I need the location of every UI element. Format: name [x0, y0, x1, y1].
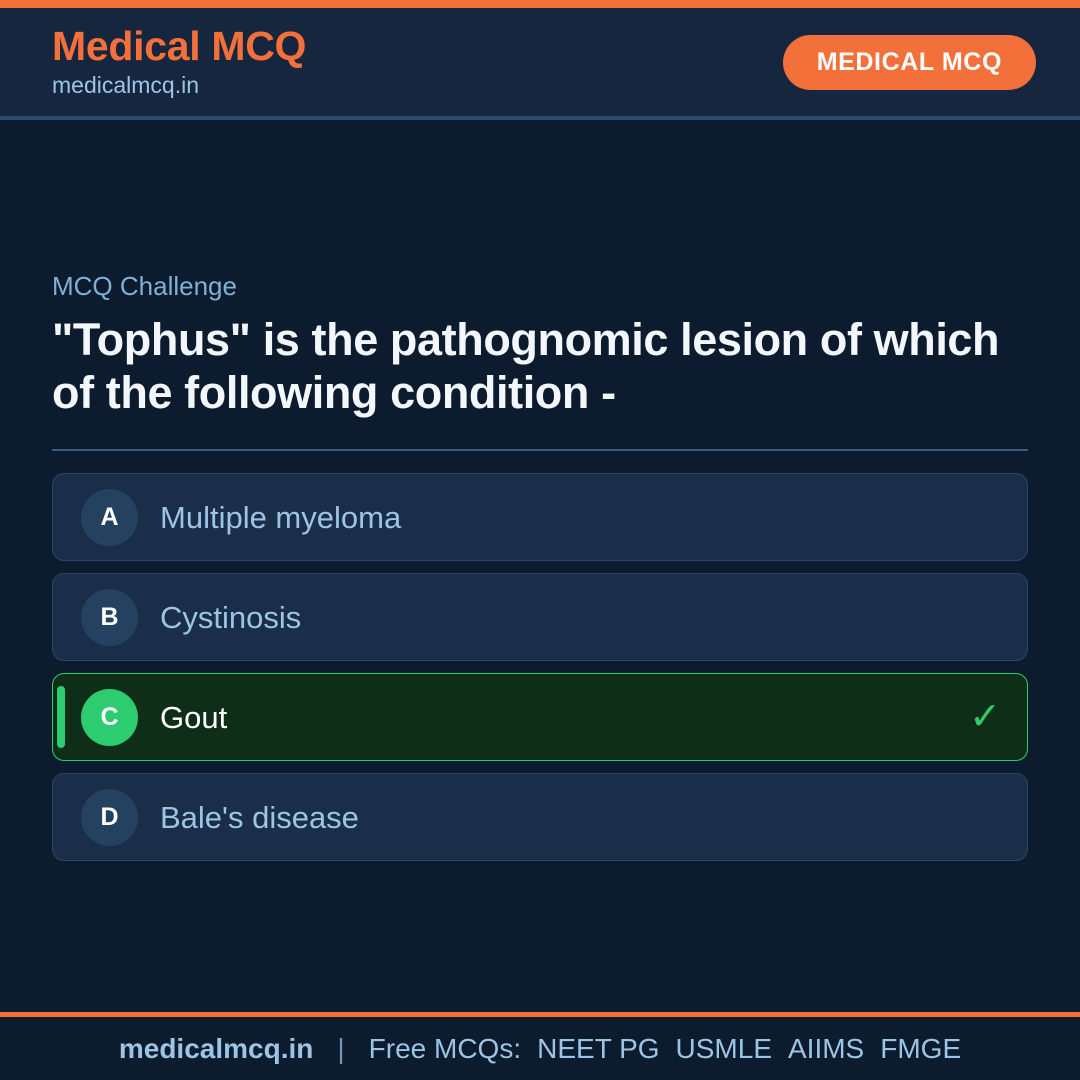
- option-b[interactable]: B Cystinosis ✓: [52, 573, 1028, 661]
- footer: medicalmcq.in | Free MCQs: NEET PG USMLE…: [0, 1012, 1080, 1080]
- option-d[interactable]: D Bale's disease ✓: [52, 773, 1028, 861]
- footer-exam-neet-pg: NEET PG: [537, 1033, 659, 1065]
- header: Medical MCQ medicalmcq.in MEDICAL MCQ: [0, 8, 1080, 120]
- question-text: "Tophus" is the pathognomic lesion of wh…: [52, 314, 1028, 419]
- option-label: Multiple myeloma: [160, 499, 401, 536]
- option-letter-badge: A: [81, 489, 138, 546]
- option-label: Gout: [160, 699, 227, 736]
- mcq-card: Medical MCQ medicalmcq.in MEDICAL MCQ MC…: [0, 0, 1080, 1080]
- footer-exams-lead: Free MCQs:: [369, 1033, 521, 1065]
- option-c[interactable]: C Gout ✓: [52, 673, 1028, 761]
- footer-exams: Free MCQs: NEET PG USMLE AIIMS FMGE: [369, 1033, 961, 1065]
- brand: Medical MCQ medicalmcq.in: [52, 25, 306, 100]
- footer-exam-usmle: USMLE: [676, 1033, 772, 1065]
- brand-subtitle: medicalmcq.in: [52, 71, 306, 100]
- correct-accent-bar: [57, 686, 65, 748]
- eyebrow-label: MCQ Challenge: [52, 271, 1028, 302]
- option-letter-badge: B: [81, 589, 138, 646]
- question-area: MCQ Challenge "Tophus" is the pathognomi…: [0, 120, 1080, 1012]
- option-label: Cystinosis: [160, 599, 301, 636]
- check-icon: ✓: [969, 698, 1001, 736]
- question-divider: [52, 449, 1028, 451]
- option-letter-badge: D: [81, 789, 138, 846]
- option-a[interactable]: A Multiple myeloma ✓: [52, 473, 1028, 561]
- brand-title: Medical MCQ: [52, 25, 306, 68]
- top-accent-rule: [0, 0, 1080, 8]
- footer-separator: |: [327, 1033, 354, 1065]
- header-badge: MEDICAL MCQ: [783, 35, 1036, 90]
- footer-exam-aiims: AIIMS: [788, 1033, 864, 1065]
- option-label: Bale's disease: [160, 799, 359, 836]
- footer-exam-fmge: FMGE: [880, 1033, 961, 1065]
- options-list: A Multiple myeloma ✓ B Cystinosis ✓ C Go…: [52, 473, 1028, 861]
- footer-site: medicalmcq.in: [119, 1033, 314, 1065]
- option-letter-badge: C: [81, 689, 138, 746]
